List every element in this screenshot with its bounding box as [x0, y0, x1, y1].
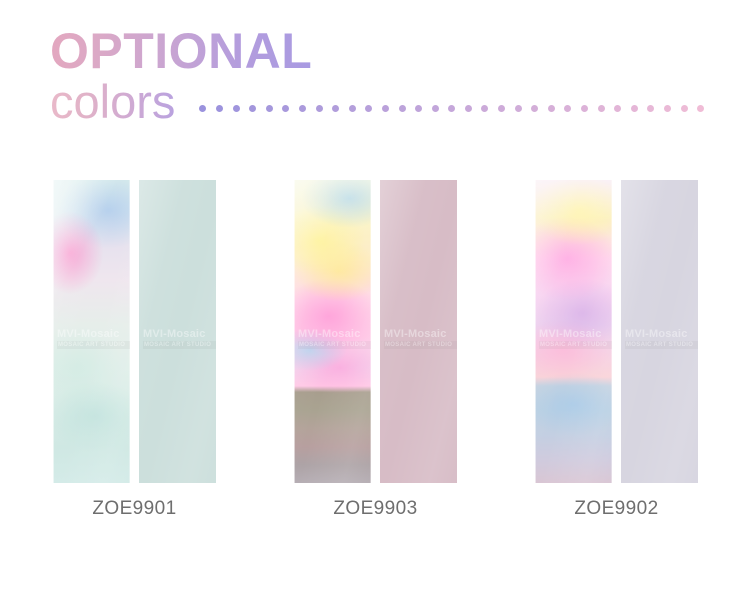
solid-color-panel[interactable]: MVI-MosaicMOSAIC ART STUDIO — [380, 180, 457, 483]
divider-dot — [282, 105, 289, 112]
divider-dot — [415, 105, 422, 112]
divider-dot — [299, 105, 306, 112]
panel-sheen — [139, 180, 216, 483]
iridescent-film-panel[interactable]: MVI-MosaicMOSAIC ART STUDIO — [53, 180, 130, 483]
divider-dot — [365, 105, 372, 112]
swatch-panel-pair: MVI-MosaicMOSAIC ART STUDIOMVI-MosaicMOS… — [53, 180, 216, 483]
watermark-name: MVI-Mosaic — [143, 328, 216, 340]
watermark-subtitle: MOSAIC ART STUDIO — [625, 341, 698, 349]
watermark-name: MVI-Mosaic — [539, 328, 612, 340]
iridescent-film-panel[interactable]: MVI-MosaicMOSAIC ART STUDIO — [535, 180, 612, 483]
divider-dot — [233, 105, 240, 112]
color-swatch-gallery: MVI-MosaicMOSAIC ART STUDIOMVI-MosaicMOS… — [0, 180, 750, 540]
swatch-code-label: ZOE9901 — [53, 498, 216, 520]
divider-dot — [216, 105, 223, 112]
subtitle-row: colors — [50, 77, 710, 126]
divider-dot — [515, 105, 522, 112]
page-header: OPTIONAL colors — [50, 26, 710, 136]
dotted-divider — [199, 105, 704, 112]
divider-dot — [382, 105, 389, 112]
divider-dot — [581, 105, 588, 112]
divider-dot — [266, 105, 273, 112]
divider-dot — [432, 105, 439, 112]
divider-dot — [349, 105, 356, 112]
panel-sheen — [294, 180, 371, 483]
divider-dot — [614, 105, 621, 112]
swatch-group[interactable]: MVI-MosaicMOSAIC ART STUDIOMVI-MosaicMOS… — [535, 180, 698, 483]
watermark: MVI-MosaicMOSAIC ART STUDIO — [143, 328, 216, 349]
watermark: MVI-MosaicMOSAIC ART STUDIO — [539, 328, 612, 349]
divider-dot — [531, 105, 538, 112]
iridescent-film-panel[interactable]: MVI-MosaicMOSAIC ART STUDIO — [294, 180, 371, 483]
watermark-name: MVI-Mosaic — [298, 328, 371, 340]
divider-dot — [465, 105, 472, 112]
divider-dot — [316, 105, 323, 112]
divider-dot — [647, 105, 654, 112]
swatch-group[interactable]: MVI-MosaicMOSAIC ART STUDIOMVI-MosaicMOS… — [53, 180, 216, 483]
watermark-subtitle: MOSAIC ART STUDIO — [143, 341, 216, 349]
divider-dot — [548, 105, 555, 112]
watermark-subtitle: MOSAIC ART STUDIO — [298, 341, 371, 349]
divider-dot — [498, 105, 505, 112]
swatch-code-label: ZOE9903 — [294, 498, 457, 520]
divider-dot — [332, 105, 339, 112]
divider-dot — [664, 105, 671, 112]
watermark: MVI-MosaicMOSAIC ART STUDIO — [298, 328, 371, 349]
watermark: MVI-MosaicMOSAIC ART STUDIO — [57, 328, 130, 349]
divider-dot — [564, 105, 571, 112]
divider-dot — [399, 105, 406, 112]
page-title-primary: OPTIONAL — [50, 26, 312, 76]
solid-color-panel[interactable]: MVI-MosaicMOSAIC ART STUDIO — [139, 180, 216, 483]
divider-dot — [697, 105, 704, 112]
watermark-subtitle: MOSAIC ART STUDIO — [384, 341, 457, 349]
divider-dot — [631, 105, 638, 112]
divider-dot — [481, 105, 488, 112]
watermark-name: MVI-Mosaic — [384, 328, 457, 340]
solid-color-panel[interactable]: MVI-MosaicMOSAIC ART STUDIO — [621, 180, 698, 483]
watermark-name: MVI-Mosaic — [625, 328, 698, 340]
page-title-secondary: colors — [50, 77, 175, 126]
swatch-panel-pair: MVI-MosaicMOSAIC ART STUDIOMVI-MosaicMOS… — [294, 180, 457, 483]
divider-dot — [598, 105, 605, 112]
watermark: MVI-MosaicMOSAIC ART STUDIO — [625, 328, 698, 349]
watermark-name: MVI-Mosaic — [57, 328, 130, 340]
panel-sheen — [621, 180, 698, 483]
divider-dot — [448, 105, 455, 112]
panel-sheen — [535, 180, 612, 483]
watermark: MVI-MosaicMOSAIC ART STUDIO — [384, 328, 457, 349]
swatch-code-label: ZOE9902 — [535, 498, 698, 520]
swatch-group[interactable]: MVI-MosaicMOSAIC ART STUDIOMVI-MosaicMOS… — [294, 180, 457, 483]
panel-sheen — [53, 180, 130, 483]
divider-dot — [249, 105, 256, 112]
divider-dot — [681, 105, 688, 112]
watermark-subtitle: MOSAIC ART STUDIO — [539, 341, 612, 349]
watermark-subtitle: MOSAIC ART STUDIO — [57, 341, 130, 349]
swatch-panel-pair: MVI-MosaicMOSAIC ART STUDIOMVI-MosaicMOS… — [535, 180, 698, 483]
panel-sheen — [380, 180, 457, 483]
divider-dot — [199, 105, 206, 112]
